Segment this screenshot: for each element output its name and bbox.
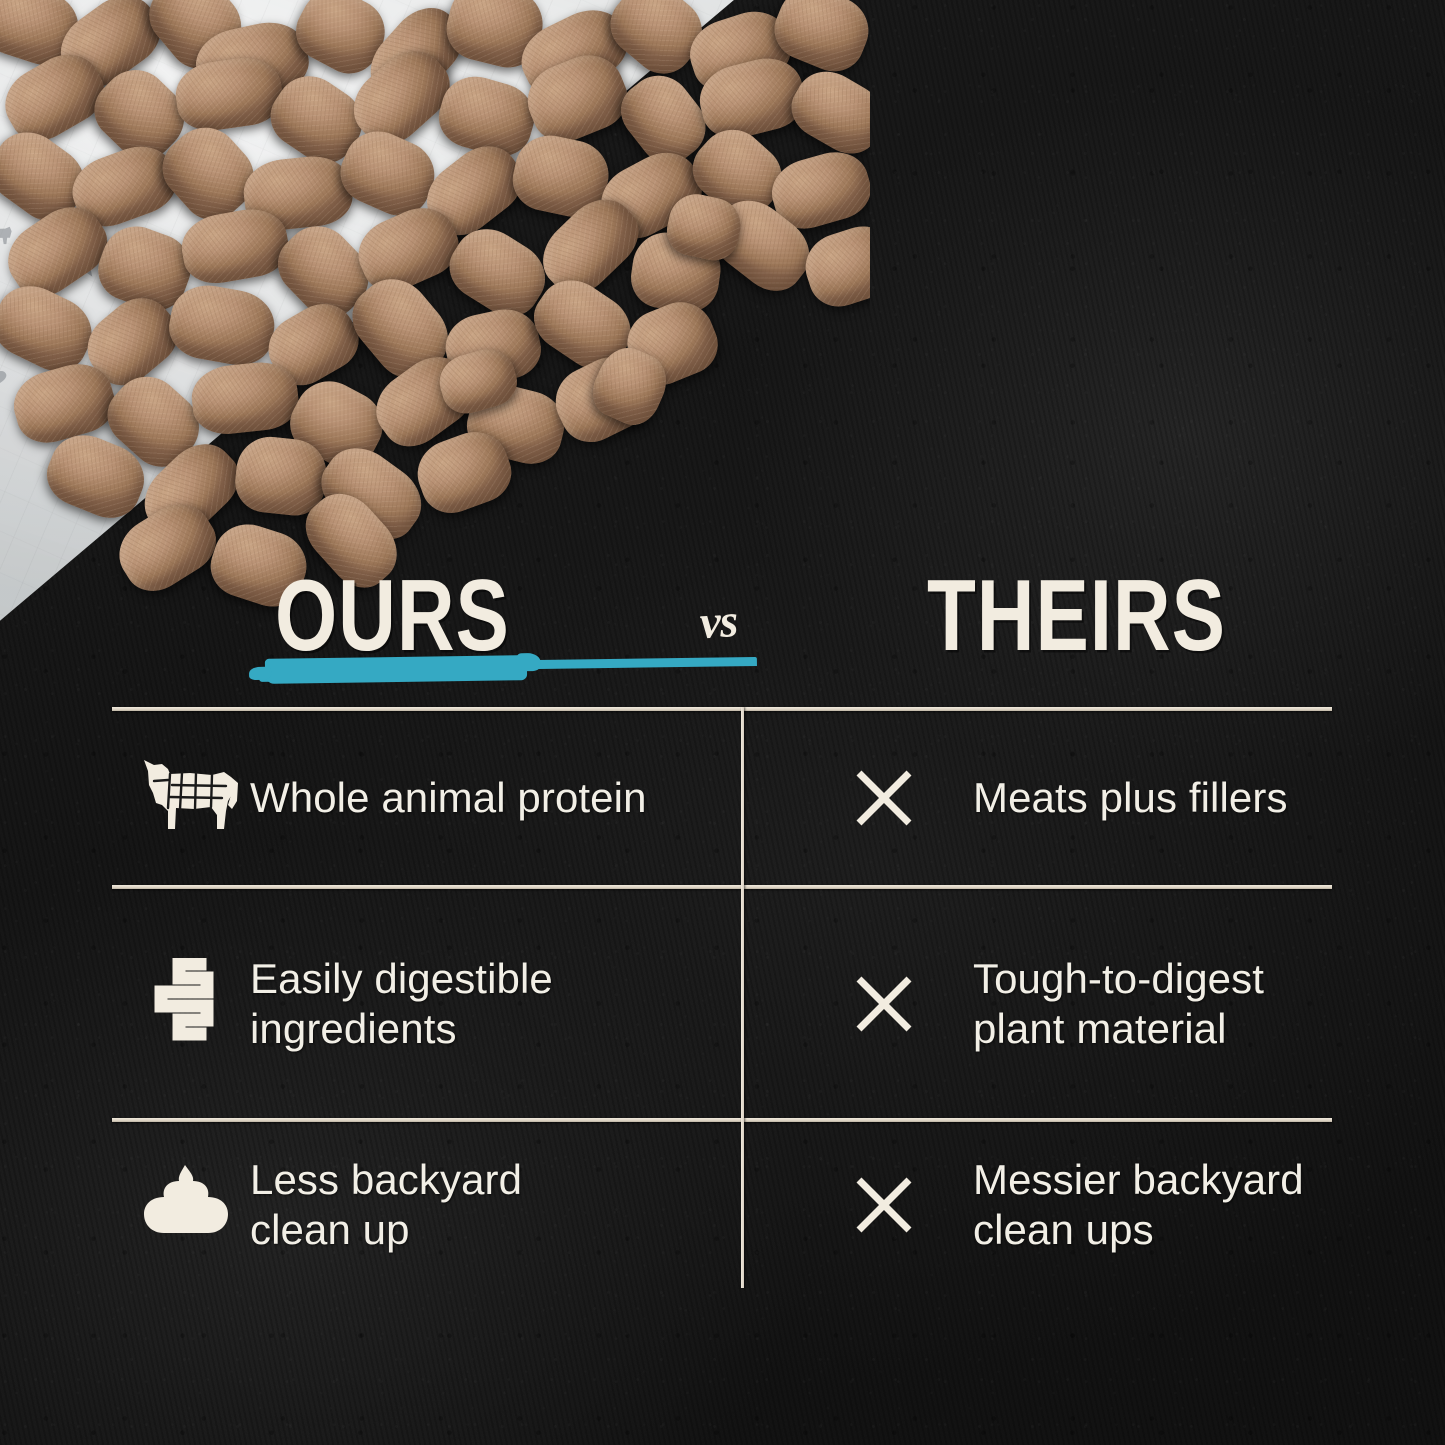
- table-row: Easily digestibleingredients Tough-to-di…: [112, 889, 1332, 1118]
- comparison-infographic: BUTCHER CUT PROTEIN: [0, 0, 1445, 1445]
- table-row: Whole animal protein Meats plus fillers: [112, 711, 1332, 885]
- ours-label-line1: Easily digestible: [250, 955, 553, 1002]
- comparison-table: Whole animal protein Meats plus fillers: [112, 707, 1332, 1288]
- x-mark-icon: [853, 767, 973, 829]
- theirs-label: Tough-to-digestplant material: [973, 954, 1264, 1053]
- ours-vs-theirs-block: OURS vs THEIRS: [112, 565, 1332, 1280]
- cow-butcher-chart-icon: [122, 755, 250, 841]
- theirs-label-line2: clean ups: [973, 1206, 1154, 1253]
- vs-label: vs: [699, 594, 739, 650]
- poop-icon: [122, 1163, 250, 1247]
- theirs-label-line1: Tough-to-digest: [973, 955, 1264, 1002]
- theirs-cell: Messier backyardclean ups: [741, 1122, 1332, 1288]
- theirs-label-line2: plant material: [973, 1005, 1227, 1052]
- theirs-cell: Meats plus fillers: [741, 711, 1332, 885]
- comparison-header: OURS vs THEIRS: [112, 565, 1332, 707]
- ours-cell: Less backyardclean up: [112, 1122, 741, 1288]
- theirs-label: Meats plus fillers: [973, 773, 1288, 823]
- theirs-label: Messier backyardclean ups: [973, 1155, 1304, 1254]
- ours-label: Easily digestibleingredients: [250, 954, 553, 1053]
- ours-label: Less backyardclean up: [250, 1155, 522, 1254]
- table-row: Less backyardclean up Messier backyardcl…: [112, 1122, 1332, 1288]
- theirs-heading: THEIRS: [927, 565, 1226, 666]
- ours-heading-group: OURS: [275, 565, 527, 651]
- ours-heading: OURS: [275, 565, 510, 666]
- kibble-pile: [0, 0, 870, 640]
- intestine-digestion-icon: [122, 958, 250, 1050]
- ours-label: Whole animal protein: [250, 773, 647, 823]
- ours-label-line2: ingredients: [250, 1005, 457, 1052]
- theirs-cell: Tough-to-digestplant material: [741, 889, 1332, 1118]
- ours-cell: Whole animal protein: [112, 711, 741, 885]
- x-mark-icon: [853, 973, 973, 1035]
- ours-label-line2: clean up: [250, 1206, 410, 1253]
- theirs-heading-group: THEIRS: [927, 565, 1248, 651]
- theirs-label-line1: Messier backyard: [973, 1156, 1304, 1203]
- x-mark-icon: [853, 1174, 973, 1236]
- ours-cell: Easily digestibleingredients: [112, 889, 741, 1118]
- ours-label-line1: Less backyard: [250, 1156, 522, 1203]
